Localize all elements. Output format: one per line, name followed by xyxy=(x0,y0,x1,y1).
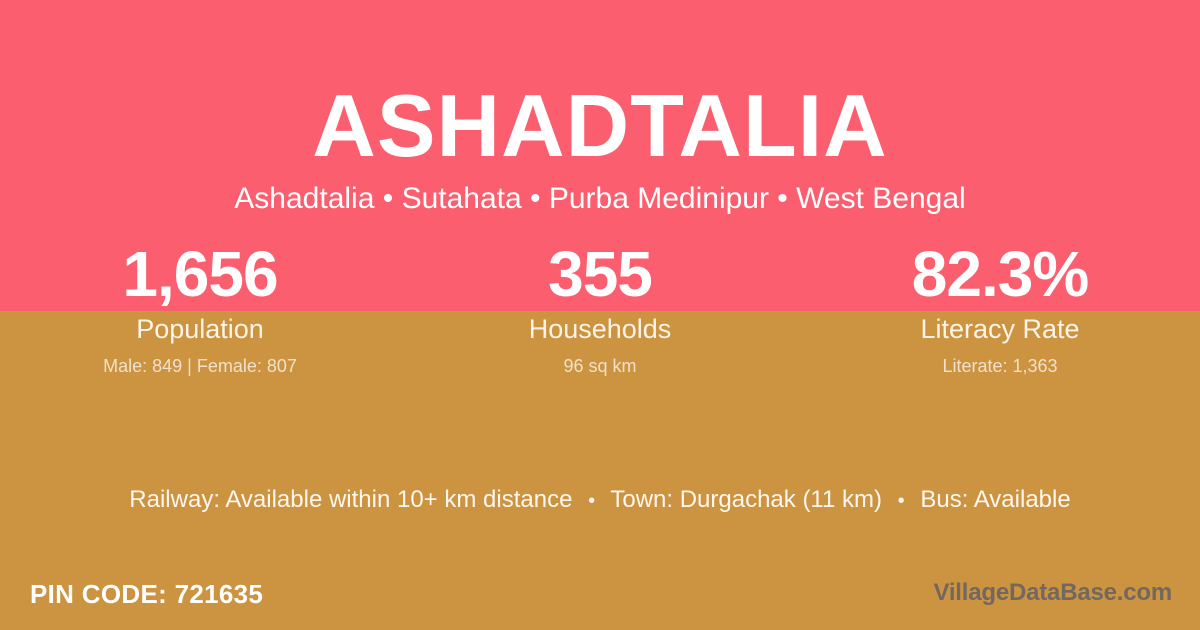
stat-value: 355 xyxy=(400,240,800,309)
stat-value: 1,656 xyxy=(0,240,400,309)
infrastructure-line: Railway: Available within 10+ km distanc… xyxy=(0,486,1200,515)
card-content: ASHADTALIA Ashadtalia • Sutahata • Purba… xyxy=(0,0,1200,630)
breadcrumb: Ashadtalia • Sutahata • Purba Medinipur … xyxy=(0,181,1200,217)
stats-row: 1,656 Population Male: 849 | Female: 807… xyxy=(0,240,1200,377)
pin-code: PIN CODE: 721635 xyxy=(30,579,263,610)
stat-label: Population xyxy=(0,313,400,345)
site-watermark: VillageDataBase.com xyxy=(933,579,1172,608)
stat-literacy-rate: 82.3% Literacy Rate Literate: 1,363 xyxy=(800,240,1200,377)
stat-value: 82.3% xyxy=(800,240,1200,309)
page-title: ASHADTALIA xyxy=(0,82,1200,170)
village-info-card: ASHADTALIA Ashadtalia • Sutahata • Purba… xyxy=(0,0,1200,630)
stat-population: 1,656 Population Male: 849 | Female: 807 xyxy=(0,240,400,377)
stat-sublabel: 96 sq km xyxy=(400,356,800,378)
stat-sublabel: Male: 849 | Female: 807 xyxy=(0,356,400,378)
infra-town: Town: Durgachak (11 km) xyxy=(610,486,882,513)
stat-sublabel: Literate: 1,363 xyxy=(800,356,1200,378)
infra-separator-icon: • xyxy=(889,489,914,513)
infra-railway: Railway: Available within 10+ km distanc… xyxy=(129,486,572,513)
stat-label: Literacy Rate xyxy=(800,313,1200,345)
stat-households: 355 Households 96 sq km xyxy=(400,240,800,377)
stat-label: Households xyxy=(400,313,800,345)
infra-bus: Bus: Available xyxy=(920,486,1070,513)
infra-separator-icon: • xyxy=(579,489,604,513)
